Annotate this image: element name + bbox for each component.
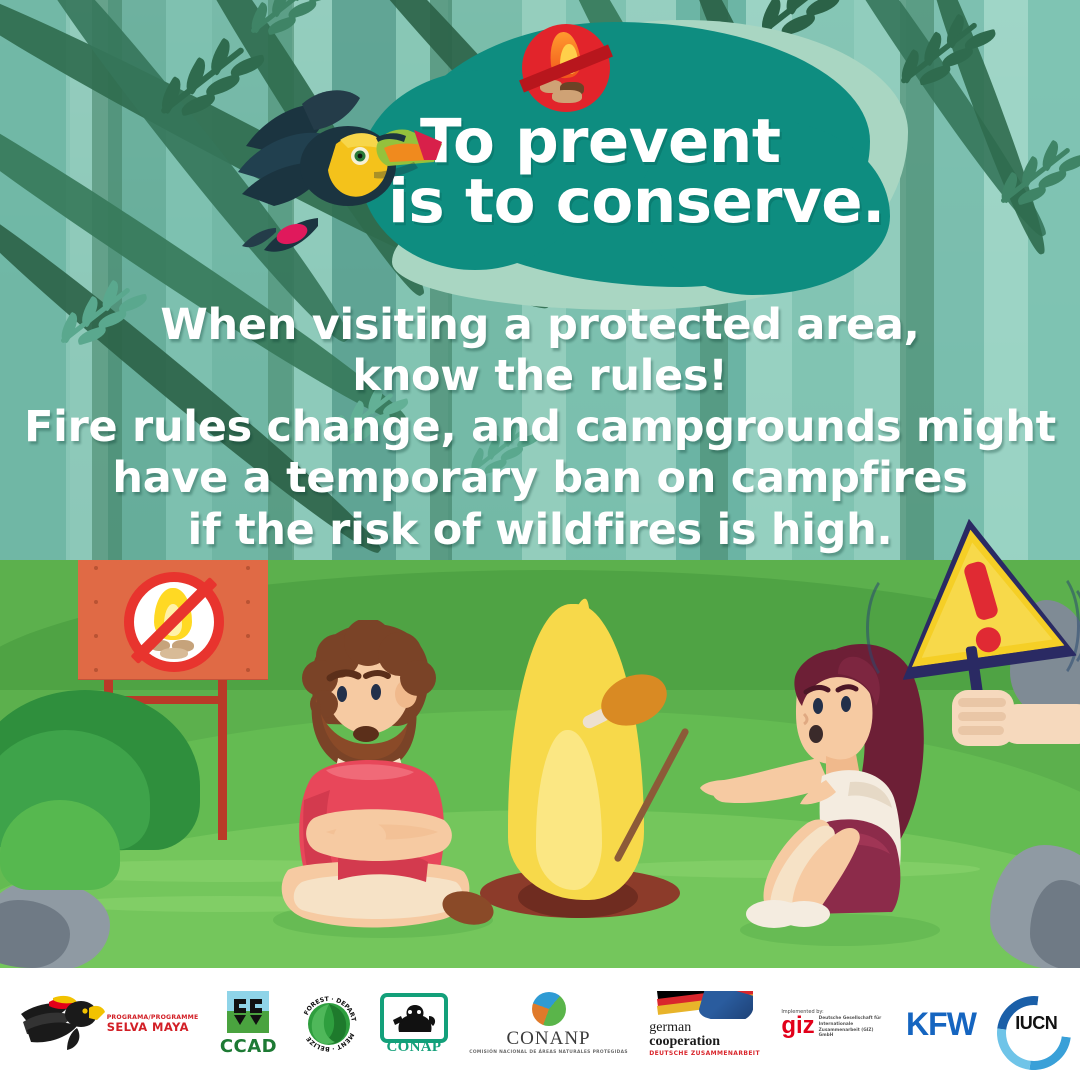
- german-cooperation-line-3: DEUTSCHE ZUSAMMENARBEIT: [649, 1050, 760, 1057]
- logo-giz: Implemented by: giz Deutsche Gesellschaf…: [781, 1009, 884, 1039]
- prohibition-symbol-icon: [124, 572, 224, 672]
- toucan-icon: [228, 86, 448, 266]
- belize-forest-mark-icon: FOREST · DEPART MENT · BELIZE: [299, 994, 359, 1054]
- logo-ccad: CCAD: [220, 991, 277, 1057]
- no-campfire-badge-icon: [522, 24, 610, 112]
- sign-screw: [246, 566, 250, 570]
- selva-maya-line-2: SELVA MAYA: [107, 1022, 199, 1034]
- partner-logo-bar: PROGRAMA/PROGRAMME SELVA MAYA CCAD: [0, 968, 1080, 1080]
- logo-iucn: IUCN: [997, 996, 1061, 1052]
- seated-man-illustration: [268, 620, 518, 940]
- sign-board: [78, 560, 268, 680]
- logo-conap: CONAP: [380, 993, 448, 1056]
- conanp-label: CONANP: [507, 1028, 591, 1050]
- body-copy: When visiting a protected area, know the…: [0, 300, 1080, 556]
- headline-line-2: is to conserve.: [380, 172, 900, 232]
- sign-log: [160, 648, 188, 659]
- iucn-mark-icon: IUCN: [997, 996, 1061, 1052]
- giz-full-name: Deutsche Gesellschaft für Internationale…: [819, 1016, 885, 1039]
- logo-kfw: KFW: [906, 1006, 976, 1043]
- body-line-3: Fire rules change, and campgrounds might: [0, 402, 1080, 453]
- iucn-label: IUCN: [1015, 1013, 1057, 1034]
- german-cooperation-line-2: cooperation: [649, 1035, 760, 1050]
- finger-line: [958, 726, 1004, 735]
- body-line-1: When visiting a protected area,: [0, 300, 1080, 351]
- conanp-subtitle: COMISIÓN NACIONAL DE ÁREAS NATURALES PRO…: [469, 1050, 628, 1056]
- ccad-mark-icon: [227, 991, 269, 1033]
- finger-line: [958, 712, 1006, 721]
- sign-screw: [94, 566, 98, 570]
- headline-line-1: To prevent: [380, 112, 900, 172]
- poster-canvas: To prevent is to conserve. When visiting…: [0, 0, 1080, 1080]
- sign-screw: [246, 634, 250, 638]
- logo-conanp: CONANP COMISIÓN NACIONAL DE ÁREAS NATURA…: [469, 992, 628, 1056]
- badge-log: [552, 90, 582, 103]
- giz-wordmark: giz: [781, 1016, 814, 1035]
- body-line-2: know the rules!: [0, 351, 1080, 402]
- headline: To prevent is to conserve.: [380, 112, 900, 233]
- sign-screw: [94, 600, 98, 604]
- sign-screw: [94, 668, 98, 672]
- selva-maya-toucan-icon: [19, 994, 105, 1054]
- kfw-label: KFW: [906, 1006, 976, 1043]
- logo-selva-maya: PROGRAMA/PROGRAMME SELVA MAYA: [19, 994, 199, 1054]
- body-line-4: have a temporary ban on campfires: [0, 453, 1080, 504]
- sign-screw: [246, 668, 250, 672]
- body-line-5: if the risk of wildfires is high.: [0, 505, 1080, 556]
- logo-belize-forest-department: FOREST · DEPART MENT · BELIZE: [299, 994, 359, 1054]
- finger-line: [958, 698, 1006, 707]
- conap-label: CONAP: [386, 1039, 441, 1056]
- german-cooperation-line-1: german: [649, 1021, 760, 1035]
- sign-screw: [94, 634, 98, 638]
- ccad-label: CCAD: [220, 1036, 277, 1057]
- sign-screw: [246, 600, 250, 604]
- german-cooperation-flag-icon: [657, 991, 753, 1019]
- conanp-mark-icon: [532, 992, 566, 1026]
- conap-mark-icon: [380, 993, 448, 1043]
- logo-german-cooperation: german cooperation DEUTSCHE ZUSAMMENARBE…: [649, 991, 760, 1058]
